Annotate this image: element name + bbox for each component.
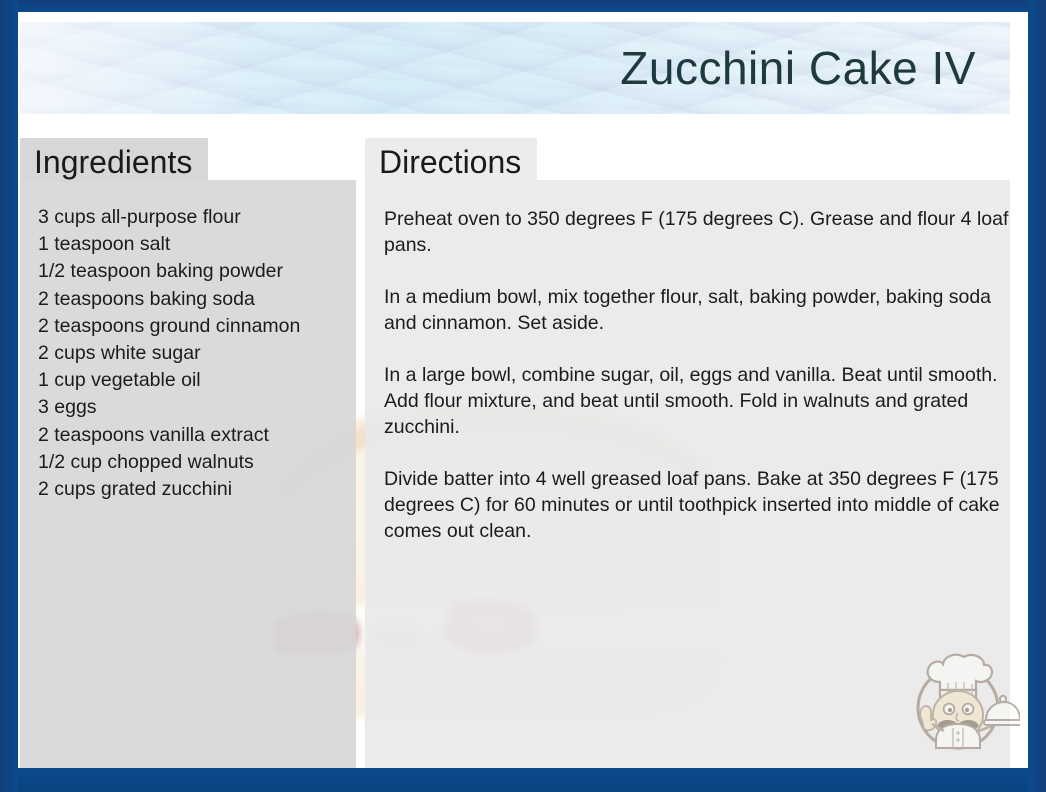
card-border-left xyxy=(0,0,18,792)
list-item: 1/2 cup chopped walnuts xyxy=(38,449,358,476)
list-item: 2 cups grated zucchini xyxy=(38,476,358,503)
list-item: 3 cups all-purpose flour xyxy=(38,204,358,231)
list-item: 2 teaspoons baking soda xyxy=(38,286,358,313)
chef-mascot-logo xyxy=(896,636,1020,760)
direction-step: Preheat oven to 350 degrees F (175 degre… xyxy=(384,206,1016,258)
card-border-right xyxy=(1028,0,1046,792)
list-item: 2 teaspoons ground cinnamon xyxy=(38,313,358,340)
card-border-top xyxy=(0,0,1046,12)
card-page: Zucchini Cake IV xyxy=(18,12,1028,768)
directions-tab: Directions xyxy=(365,138,537,182)
banner-fade-overlay xyxy=(20,22,250,114)
direction-step: In a large bowl, combine sugar, oil, egg… xyxy=(384,362,1016,440)
card-border-bottom xyxy=(0,768,1046,792)
direction-step: Divide batter into 4 well greased loaf p… xyxy=(384,466,1016,544)
page-title: Zucchini Cake IV xyxy=(620,45,976,91)
ingredients-heading: Ingredients xyxy=(34,142,192,182)
list-item: 1 teaspoon salt xyxy=(38,231,358,258)
list-item: 3 eggs xyxy=(38,394,358,421)
title-banner: Zucchini Cake IV xyxy=(20,22,1010,114)
list-item: 2 teaspoons vanilla extract xyxy=(38,422,358,449)
ingredients-list: 3 cups all-purpose flour 1 teaspoon salt… xyxy=(38,204,358,503)
recipe-card: Zucchini Cake IV xyxy=(0,0,1046,792)
list-item: 1/2 teaspoon baking powder xyxy=(38,258,358,285)
list-item: 2 cups white sugar xyxy=(38,340,358,367)
directions-heading: Directions xyxy=(379,142,521,182)
directions-steps: Preheat oven to 350 degrees F (175 degre… xyxy=(384,206,1016,544)
direction-step: In a medium bowl, mix together flour, sa… xyxy=(384,284,1016,336)
list-item: 1 cup vegetable oil xyxy=(38,367,358,394)
ingredients-tab: Ingredients xyxy=(20,138,208,182)
